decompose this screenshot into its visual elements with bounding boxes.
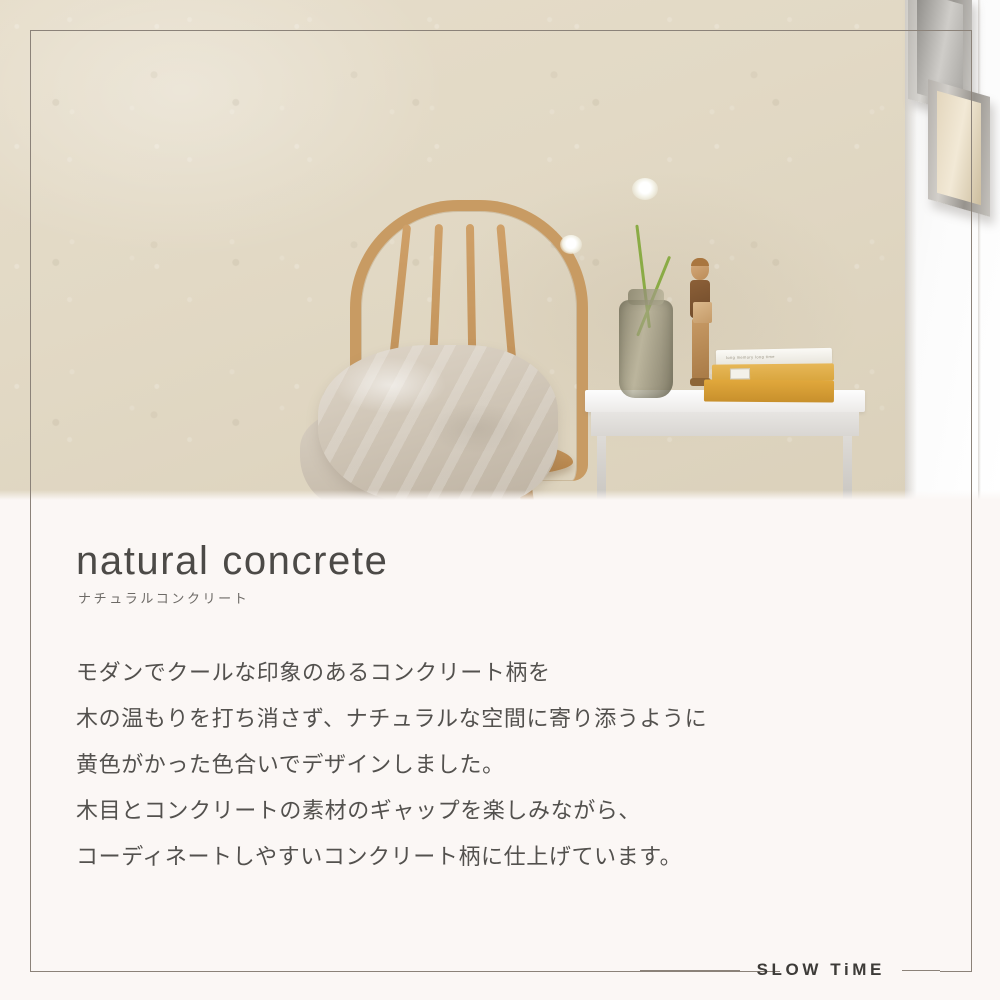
brand-name: SLOW TiME [740,960,902,980]
page-subtitle: ナチュラルコンクリート [78,588,249,607]
table-apron [591,412,859,436]
wooden-figurine [686,258,714,398]
brand-logo: SLOW TiME [640,953,940,987]
description-text: モダンでクールな印象のあるコンクリート柄を 木の温もりを打ち消さず、ナチュラルな… [76,650,906,880]
poster-page: long memory long time natural concrete ナ… [0,0,1000,1000]
white-side-table [585,390,865,500]
logo-rule-right [902,970,940,971]
page-title: natural concrete [76,541,388,581]
logo-rule-left [640,970,740,971]
allium-bloom [632,178,658,200]
smoked-glass-vase [619,300,673,398]
description-panel: natural concrete ナチュラルコンクリート モダンでクールな印象の… [0,500,1000,1000]
figurine-bag [693,302,712,323]
wall-seam [978,0,981,500]
description-line: コーディネートしやすいコンクリート柄に仕上げています。 [76,834,906,880]
description-line: 木目とコンクリートの素材のギャップを楽しみながら、 [76,788,906,834]
book-stack-mustard-lower [704,380,834,403]
hero-photo: long memory long time [0,0,1000,500]
book-spine-text: long memory long time [726,354,775,360]
description-line: 黄色がかった色合いでデザインしました。 [76,742,906,788]
figurine-legs [692,318,709,380]
description-line: 木の温もりを打ち消さず、ナチュラルな空間に寄り添うように [76,696,906,742]
picture-frame-lower [928,79,990,217]
book-label [730,368,750,379]
beige-wool-blanket [318,345,558,500]
photo-bottom-fade [0,490,1000,500]
allium-bloom [560,235,582,254]
figurine-hair [691,258,709,266]
description-line: モダンでクールな印象のあるコンクリート柄を [76,650,906,696]
